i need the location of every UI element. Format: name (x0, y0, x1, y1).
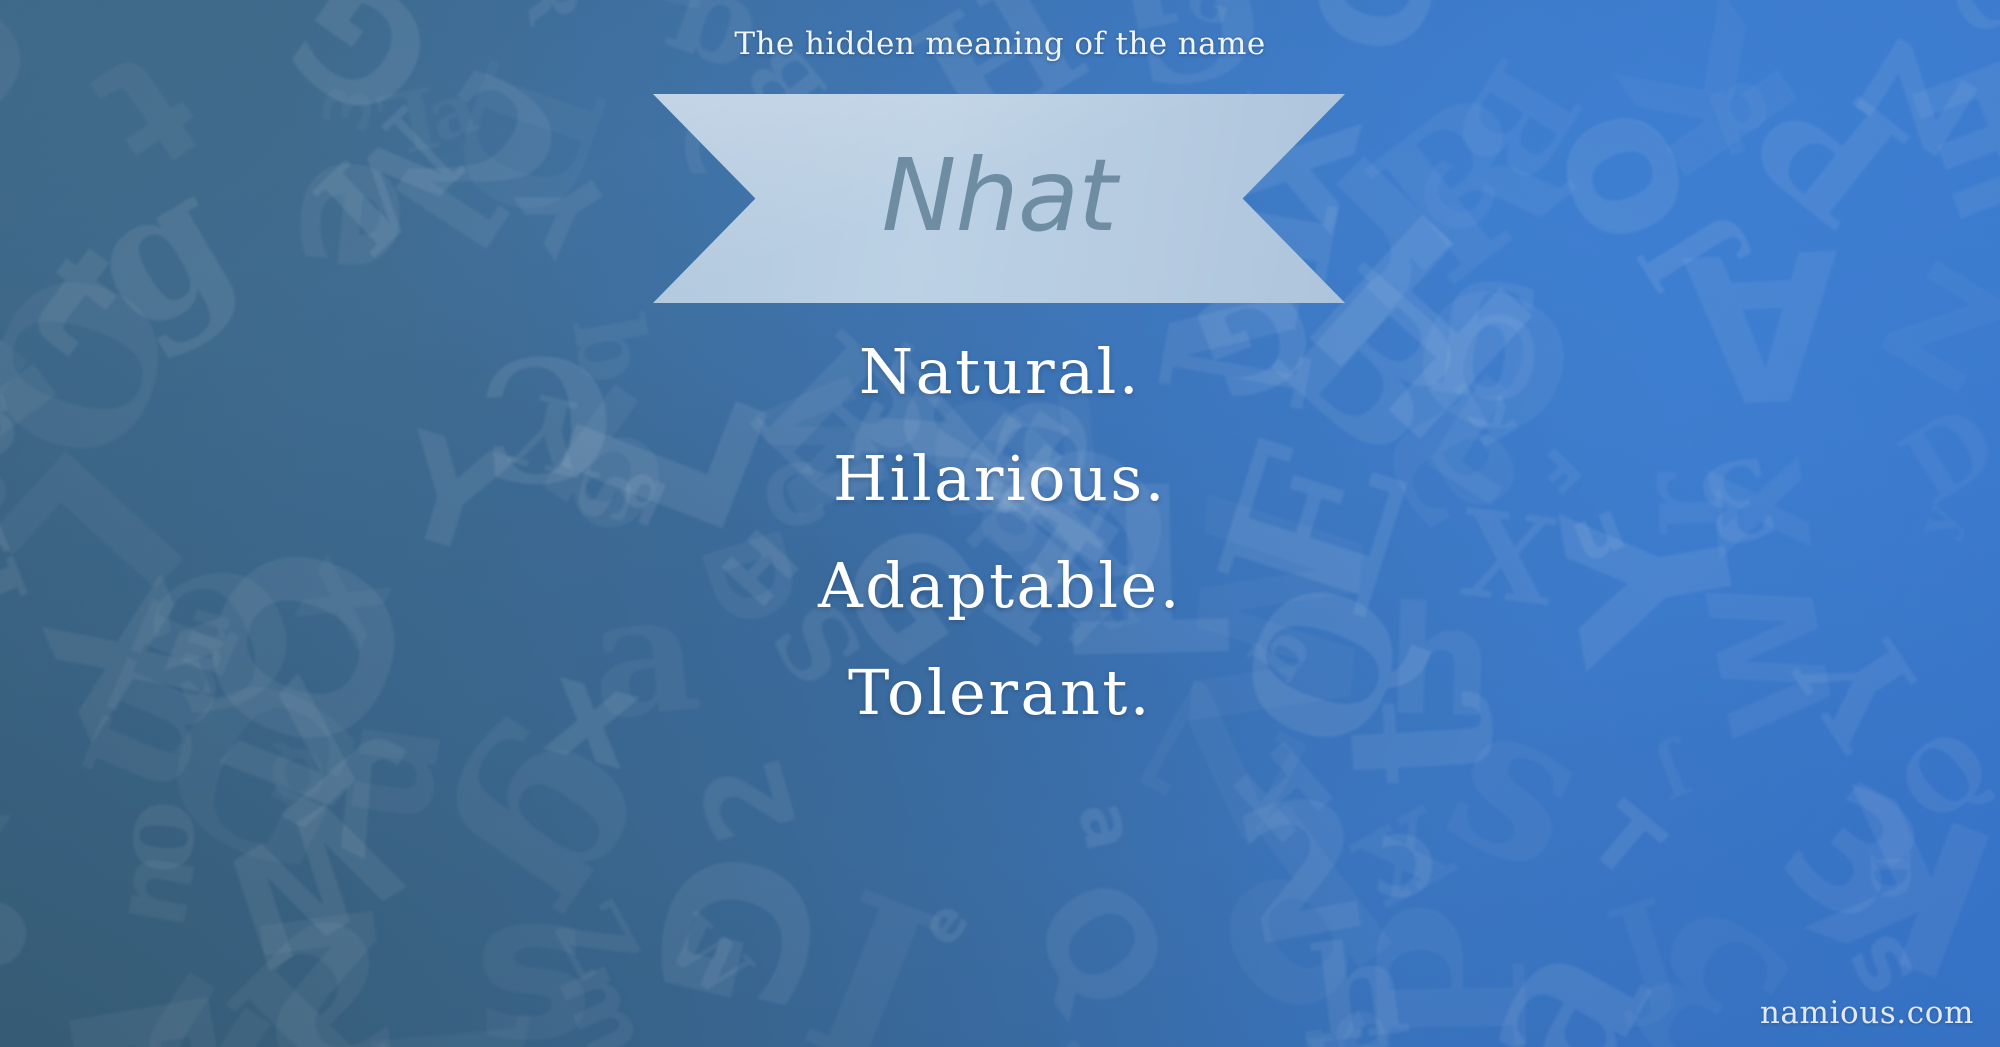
site-watermark: namious.com (1760, 995, 1974, 1031)
trait-item: Hilarious. (0, 425, 2000, 532)
name-banner: Nhat (653, 94, 1345, 303)
trait-item: Adaptable. (0, 532, 2000, 639)
trait-list: Natural. Hilarious. Adaptable. Tolerant. (0, 318, 2000, 746)
name-text: Nhat (653, 94, 1345, 303)
name-meaning-card: hnSQWXBZL2CHLWGCxbKGeCCKyorTWzt23KMG2uB3… (0, 0, 2000, 1047)
page-title: The hidden meaning of the name (0, 26, 2000, 62)
trait-item: Tolerant. (0, 639, 2000, 746)
trait-item: Natural. (0, 318, 2000, 425)
